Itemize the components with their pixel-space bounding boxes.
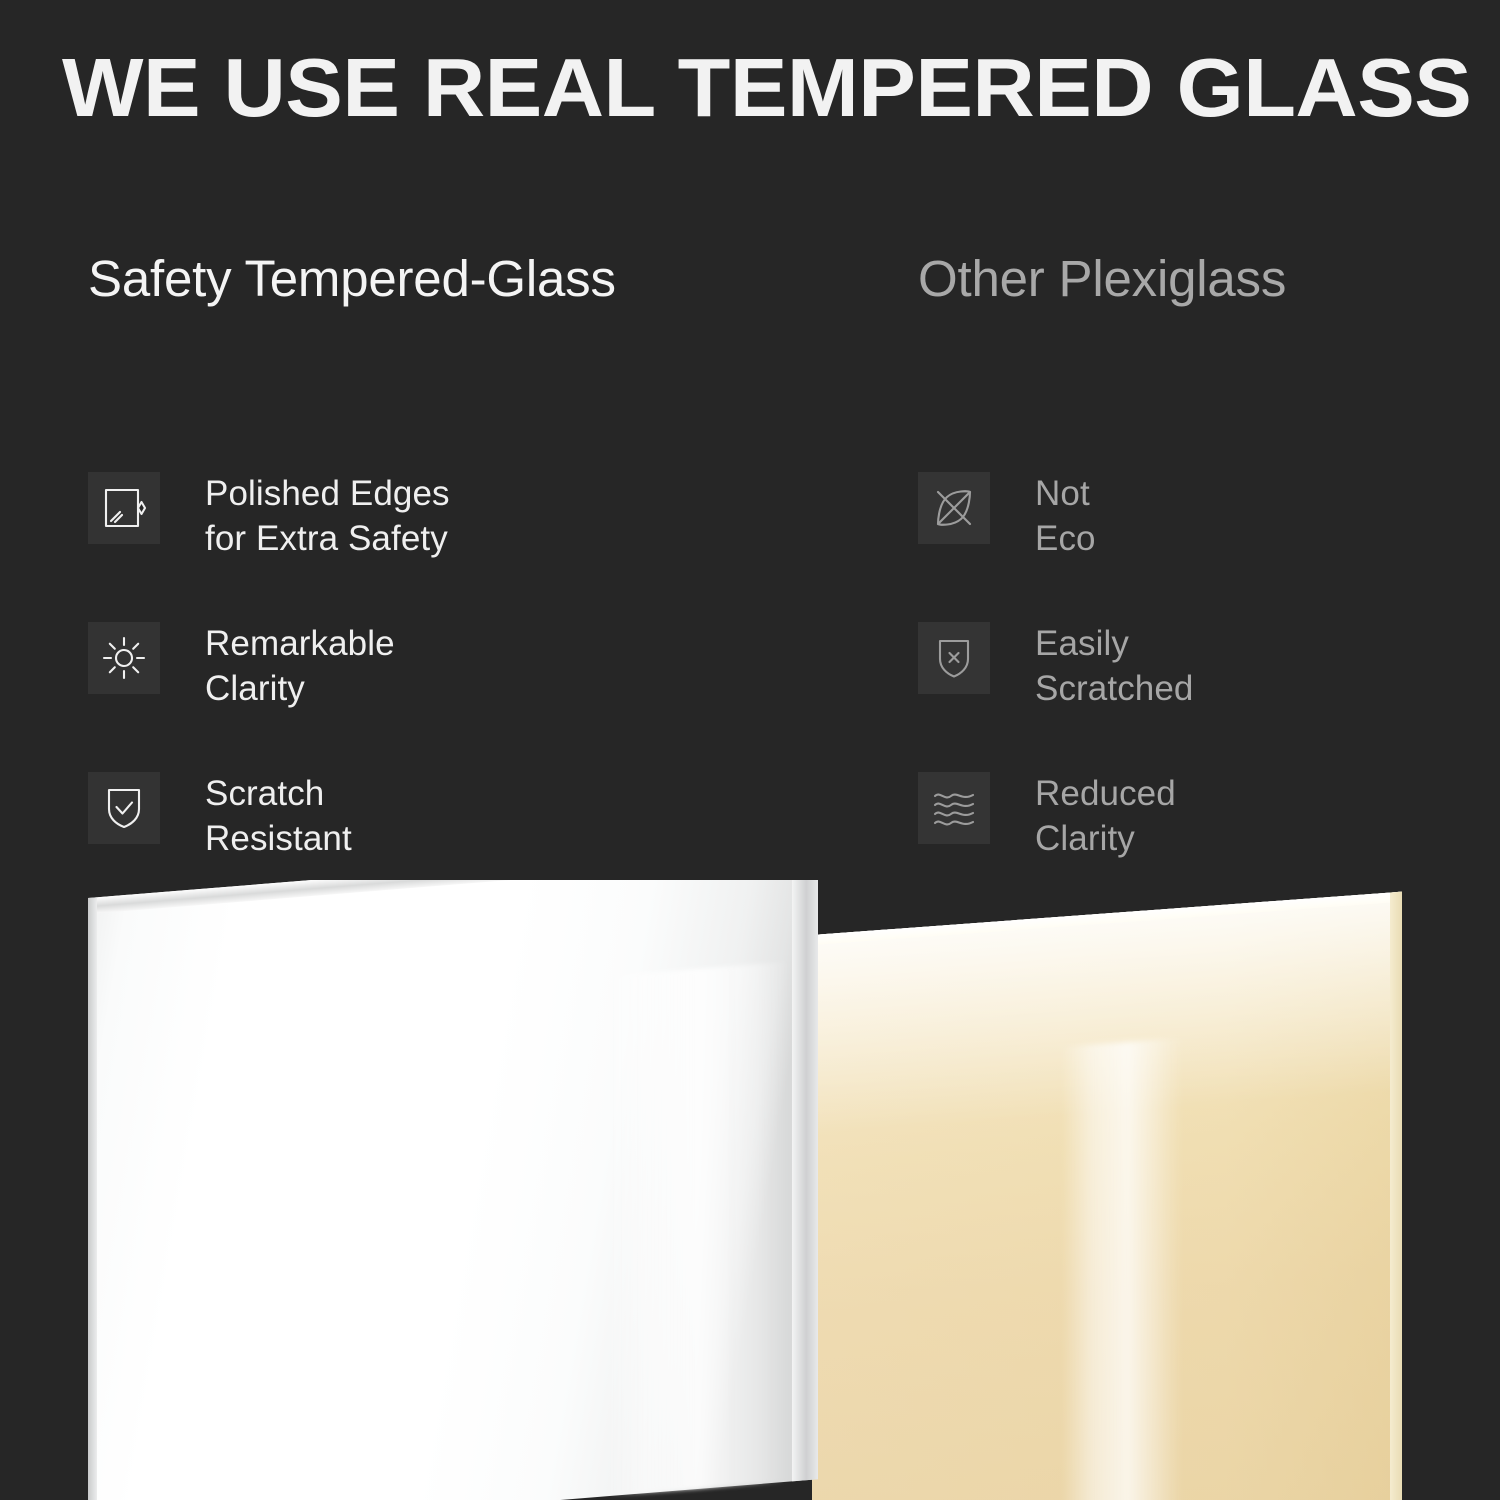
feature-line1: Easily — [1035, 621, 1194, 666]
feature-line2: Scratched — [1035, 666, 1194, 711]
feature-line2: Resistant — [205, 816, 352, 861]
feature-text-polished-edges: Polished Edges for Extra Safety — [205, 468, 450, 561]
feature-text-not-eco: Not Eco — [1035, 468, 1096, 561]
feature-list-right: Not Eco Easily Scratched — [918, 468, 1478, 918]
feature-line1: Scratch — [205, 771, 352, 816]
feature-list-left: Polished Edges for Extra Safety — [88, 468, 788, 918]
tempered-glass-reflection — [608, 962, 788, 1496]
column-plexiglass: Other Plexiglass Not Eco — [918, 246, 1478, 311]
feature-text-remarkable-clarity: Remarkable Clarity — [205, 618, 395, 711]
feature-text-reduced-clarity: Reduced Clarity — [1035, 768, 1176, 861]
feature-text-easily-scratched: Easily Scratched — [1035, 618, 1194, 711]
feature-line2: Clarity — [205, 666, 395, 711]
feature-line2: Clarity — [1035, 816, 1176, 861]
tempered-glass-polished-right-edge — [792, 880, 818, 1481]
feature-line1: Not — [1035, 471, 1096, 516]
wavy-lines-icon — [918, 772, 990, 844]
column-heading-left-line2: Tempered-Glass — [244, 250, 615, 307]
product-comparison-infographic: WE USE REAL TEMPERED GLASS Safety Temper… — [0, 0, 1500, 1500]
tempered-glass-panel — [88, 880, 818, 1500]
glass-panels-artwork — [0, 880, 1500, 1500]
feature-line1: Polished Edges — [205, 471, 450, 516]
column-heading-right: Other Plexiglass — [918, 246, 1478, 311]
shield-check-icon — [88, 772, 160, 844]
feature-line2: for Extra Safety — [205, 516, 450, 561]
column-tempered-glass: Safety Tempered-Glass Polished Edges for… — [88, 246, 788, 311]
leaf-crossed-out-icon — [918, 472, 990, 544]
feature-item-polished-edges: Polished Edges for Extra Safety — [88, 468, 788, 618]
shield-x-icon — [918, 622, 990, 694]
feature-line2: Eco — [1035, 516, 1096, 561]
feature-item-remarkable-clarity: Remarkable Clarity — [88, 618, 788, 768]
sun-brightness-icon — [88, 622, 160, 694]
plexiglass-reflection — [1062, 1038, 1182, 1500]
feature-item-not-eco: Not Eco — [918, 468, 1478, 618]
column-heading-right-line2: Plexiglass — [1059, 250, 1287, 307]
feature-line1: Reduced — [1035, 771, 1176, 816]
column-heading-left-line1: Safety — [88, 250, 231, 307]
feature-line1: Remarkable — [205, 621, 395, 666]
plexiglass-right-edge — [1390, 892, 1402, 1500]
tempered-glass-polished-top-edge — [88, 880, 818, 914]
plexiglass-panel — [812, 892, 1402, 1500]
feature-text-scratch-resistant: Scratch Resistant — [205, 768, 352, 861]
column-heading-right-line1: Other — [918, 250, 1045, 307]
feature-item-easily-scratched: Easily Scratched — [918, 618, 1478, 768]
column-heading-left: Safety Tempered-Glass — [88, 246, 788, 311]
page-title: WE USE REAL TEMPERED GLASS — [62, 42, 1500, 134]
polished-glass-sparkle-icon — [88, 472, 160, 544]
tempered-glass-polished-left-edge — [88, 897, 97, 1500]
